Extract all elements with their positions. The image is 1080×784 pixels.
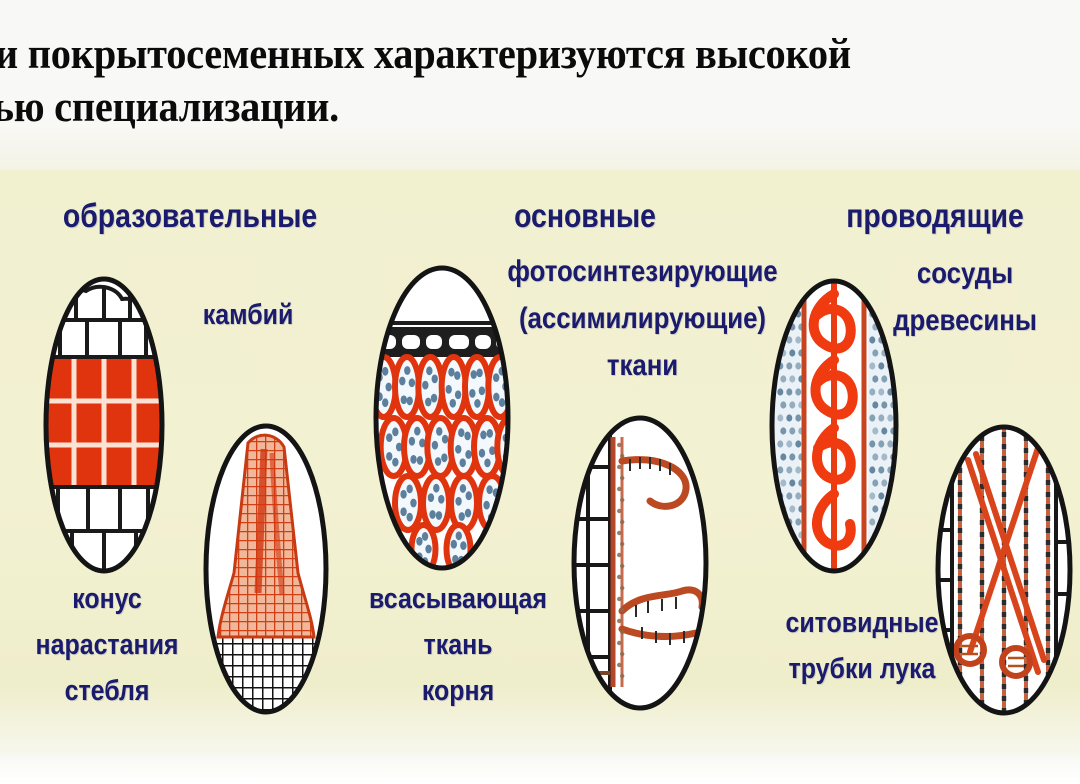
slide-footer-strip xyxy=(0,755,1080,784)
figure-palisade-section xyxy=(372,265,512,571)
figure-xylem-vessel-section xyxy=(768,278,900,574)
group-heading-vascular: проводящие xyxy=(810,196,1059,236)
figure-growth-cone-section xyxy=(202,423,330,715)
slide-root: ани покрытосеменных характеризуются высо… xyxy=(0,0,1080,784)
group-heading-ground: основные xyxy=(460,196,709,236)
label-absorbing-tissue: всасывающая ткань корня xyxy=(338,576,579,714)
slide-header: ани покрытосеменных характеризуются высо… xyxy=(0,0,1080,170)
label-cambium: камбий xyxy=(145,292,351,338)
figure-cambium-section xyxy=(42,275,166,575)
figure-sieve-tube-section xyxy=(934,424,1074,716)
group-heading-meristem: образовательные xyxy=(35,196,345,236)
page-title: ани покрытосеменных характеризуются высо… xyxy=(0,28,1012,134)
figure-root-hair-section xyxy=(570,415,710,711)
slide-body: образовательные основные проводящие фото… xyxy=(0,170,1080,755)
label-growth-cone: конус нарастания стебля xyxy=(8,576,206,714)
label-photosynthetic-tissues: фотосинтезирующие (ассимилирующие) ткани xyxy=(490,248,795,389)
